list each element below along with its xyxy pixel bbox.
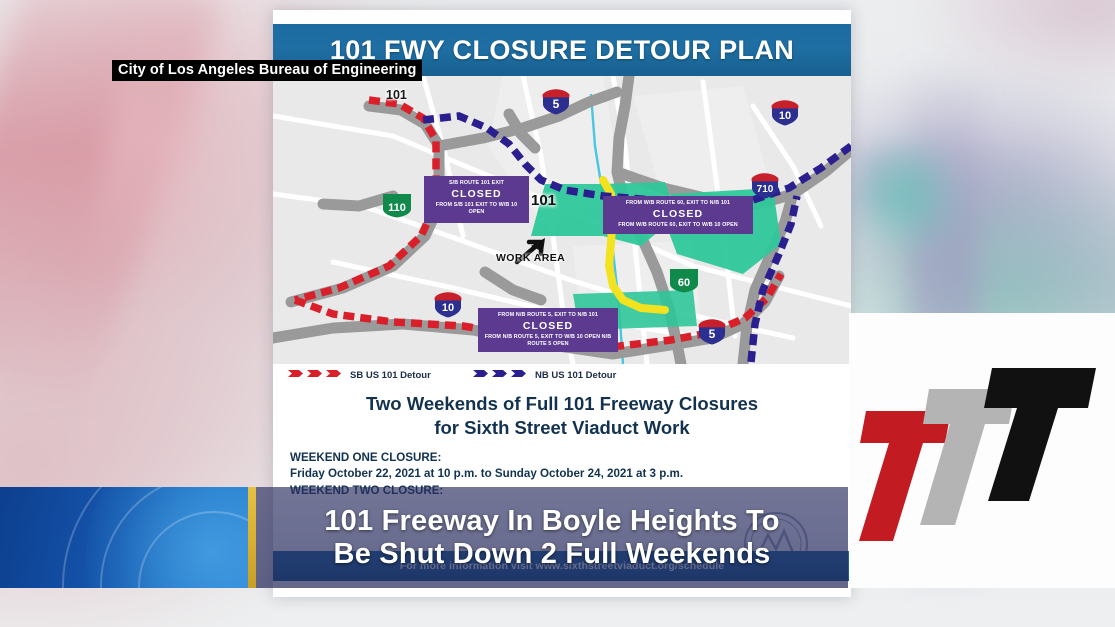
callout-sb-101-exit: S/B ROUTE 101 EXIT CLOSED FROM S/B 101 E… bbox=[424, 176, 529, 223]
callout-status-text: CLOSED bbox=[608, 208, 748, 221]
weekend-one-label: WEEKEND ONE CLOSURE: bbox=[290, 450, 835, 466]
callout-top-text: S/B ROUTE 101 EXIT bbox=[429, 180, 524, 187]
headline-line-1: Two Weekends of Full 101 Freeway Closure… bbox=[273, 392, 851, 416]
svg-text:110: 110 bbox=[388, 202, 406, 214]
legend-sb-detour-label: SB US 101 Detour bbox=[350, 370, 431, 381]
weekend-one-dates: Friday October 22, 2021 at 10 p.m. to Su… bbox=[290, 466, 835, 482]
legend-nb-detour-label: NB US 101 Detour bbox=[535, 370, 616, 381]
svg-text:60: 60 bbox=[678, 277, 690, 289]
map-label-work-area: WORK AREA bbox=[496, 252, 565, 264]
callout-bottom-text: FROM S/B 101 EXIT TO W/B 10 OPEN bbox=[429, 202, 524, 216]
lower-third-headline: 101 Freeway In Boyle Heights To Be Shut … bbox=[256, 487, 848, 588]
nb-detour-dash-icon bbox=[473, 366, 529, 384]
map-label-101-north: 101 bbox=[386, 88, 407, 102]
source-courtesy-bug: City of Los Angeles Bureau of Engineerin… bbox=[112, 60, 422, 81]
lower-third-gold-divider bbox=[248, 487, 256, 588]
callout-status-text: CLOSED bbox=[483, 320, 613, 333]
flyer-headline: Two Weekends of Full 101 Freeway Closure… bbox=[273, 392, 851, 439]
svg-text:5: 5 bbox=[709, 327, 716, 341]
legend-nb-detour: NB US 101 Detour bbox=[473, 366, 616, 384]
detour-map: 5 10 710 10 5 110 60 101 101 WORK AREA bbox=[273, 76, 851, 364]
svg-text:5: 5 bbox=[553, 97, 560, 111]
svg-text:10: 10 bbox=[779, 110, 791, 122]
callout-bottom-text: FROM W/B ROUTE 60, EXIT TO W/B 10 OPEN bbox=[608, 222, 748, 229]
callout-bottom-text: FROM N/B ROUTE 5, EXIT TO W/B 10 OPEN N/… bbox=[483, 334, 613, 348]
lower-third: 101 Freeway In Boyle Heights To Be Shut … bbox=[0, 487, 1115, 588]
callout-nb-5-exit: FROM N/B ROUTE 5, EXIT TO N/B 101 CLOSED… bbox=[478, 308, 618, 352]
svg-text:10: 10 bbox=[442, 302, 454, 314]
station-graphic-bar bbox=[0, 487, 252, 588]
callout-status-text: CLOSED bbox=[429, 188, 524, 201]
map-legend: SB US 101 Detour NB US 101 Detour bbox=[273, 366, 851, 388]
svg-text:710: 710 bbox=[757, 184, 774, 195]
lower-third-line-2: Be Shut Down 2 Full Weekends bbox=[334, 538, 771, 570]
callout-top-text: FROM N/B ROUTE 5, EXIT TO N/B 101 bbox=[483, 312, 613, 319]
map-label-101-work: 101 bbox=[531, 192, 556, 209]
background-streak-teal bbox=[845, 130, 965, 260]
broadcast-screenshot: 101 FWY CLOSURE DETOUR PLAN bbox=[0, 0, 1115, 627]
lower-third-line-1: 101 Freeway In Boyle Heights To bbox=[324, 505, 779, 537]
callout-top-text: FROM W/B ROUTE 60, EXIT TO N/B 101 bbox=[608, 200, 748, 207]
callout-wb-60-exit: FROM W/B ROUTE 60, EXIT TO N/B 101 CLOSE… bbox=[603, 196, 753, 234]
sb-detour-dash-icon bbox=[288, 366, 344, 384]
headline-line-2: for Sixth Street Viaduct Work bbox=[273, 416, 851, 440]
legend-sb-detour: SB US 101 Detour bbox=[288, 366, 431, 384]
